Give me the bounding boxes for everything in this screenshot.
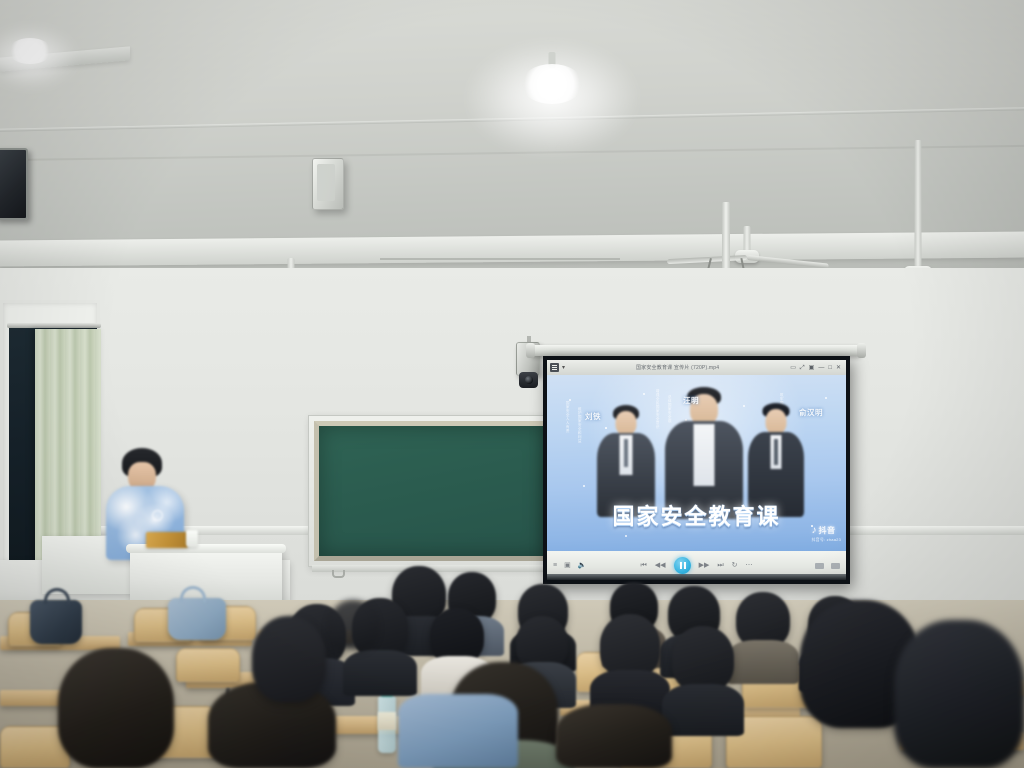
window-button-restore[interactable]: ▭ [790,365,796,371]
ceiling-light-center [492,52,612,148]
wall-speaker-dark [0,148,28,220]
pause-icon[interactable] [674,557,691,574]
loop-icon[interactable]: ↻ [732,562,738,569]
student-row2-a [252,616,326,702]
video-content[interactable]: 国家安全人人有责 维护国家安全和利益 增强全民国家安全意识 总体国家安全观 筑牢… [547,375,846,559]
student-front-far-right [894,620,1024,768]
douyin-watermark: ♪ 抖音 抖音号: zhaa23 [811,525,841,543]
wall-speaker-white [312,158,344,210]
backpack-dark-navy [30,600,82,644]
video-side-text-1: 国家安全人人有责 [565,401,570,473]
video-main-title: 国家安全教育课 [547,499,846,531]
ceiling-panel-line-2 [380,258,620,260]
music-note-icon: ♪ [811,526,816,536]
blackboard-surface [314,421,550,561]
settings-icon[interactable] [831,563,840,569]
student-front-left [58,648,174,768]
screen-bottom-edge [547,574,846,580]
lectern-item-folder [146,532,188,548]
video-person-left-name: 刘铁 [585,411,601,422]
douyin-account-label: 抖音号: zhaa23 [811,537,841,543]
video-side-text-2: 维护国家安全和利益 [577,407,582,471]
student-front-center-2 [556,704,672,768]
hamburger-menu-icon[interactable] [550,363,559,372]
screenshot-icon[interactable]: ▣ [564,562,571,569]
window-button-minimize[interactable]: — [818,365,824,371]
window-button-layout[interactable]: ▣ [809,365,815,371]
media-player-titlebar[interactable]: ▾ 国家安全教育课 宣传片 (720P).mp4 ▭ ⤢ ▣ — □ ✕ [547,360,846,375]
media-player-title: 国家安全教育课 宣传片 (720P).mp4 [565,364,790,371]
water-bottle-label [378,712,396,730]
volume-icon[interactable]: 🔈 [578,562,587,569]
student-small-a [330,600,376,648]
playlist-icon[interactable]: ≡ [553,562,557,569]
window-button-maximize[interactable]: □ [828,365,832,371]
projection-screen: ▾ 国家安全教育课 宣传片 (720P).mp4 ▭ ⤢ ▣ — □ ✕ [543,356,850,584]
sweatshirt-logo [152,510,163,521]
curtain-rod [7,323,101,328]
backpack-light-blue [168,598,226,640]
more-options-icon[interactable]: ⋯ [746,562,753,569]
previous-track-icon[interactable]: ⏮ [640,562,646,569]
student-mid-6 [672,626,734,692]
student-mid-5 [600,614,660,678]
ceiling [0,0,1024,268]
projection-screen-rollbar [531,345,861,356]
blackboard-hook [332,570,345,578]
classroom-photo: ▾ 国家安全教育课 宣传片 (720P).mp4 ▭ ⤢ ▣ — □ ✕ [0,0,1024,768]
chair-mid-1 [176,648,240,682]
video-person-center-name: 汪明 [683,395,699,406]
rewind-icon[interactable]: ◀◀ [655,562,666,569]
next-track-icon[interactable]: ⏭ [717,562,723,569]
camera-lens-icon [519,372,538,388]
ceiling-light-left [0,30,60,80]
desk-row-mid-left-1 [0,690,62,706]
window-buttons[interactable]: ▭ ⤢ ▣ — □ ✕ [790,365,841,371]
window-button-close[interactable]: ✕ [836,365,841,371]
forward-icon[interactable]: ▶▶ [699,562,710,569]
student-mid-3 [430,608,484,664]
video-person-right-name: 俞汉明 [799,407,823,418]
douyin-platform-label: 抖音 [818,525,835,536]
blackboard [308,415,556,567]
student-blue-jacket [398,694,518,768]
window-button-expand[interactable]: ⤢ [800,365,805,371]
lectern-item-cup [186,530,198,547]
fullscreen-icon[interactable] [815,563,824,569]
student-back-6 [736,592,790,648]
